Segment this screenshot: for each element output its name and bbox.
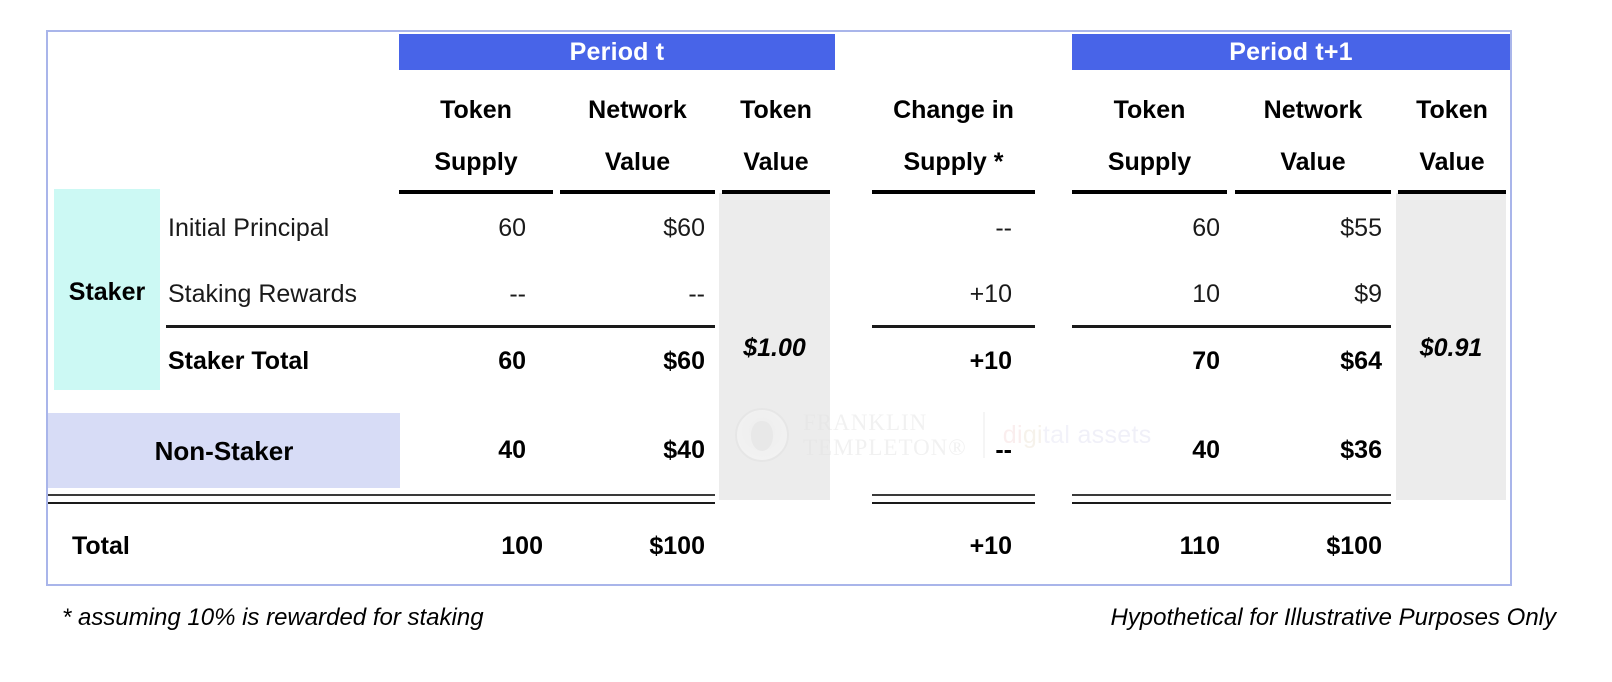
cell-total-t-token-supply: 100	[399, 532, 543, 561]
staking-illustration-table: FRANKLIN TEMPLETON® digital assets Perio…	[0, 0, 1612, 682]
column-header-t1-token-supply: Token Supply	[1072, 84, 1227, 194]
cell-total-change-in-supply: +10	[872, 532, 1012, 561]
cell-staking-rewards-t-network-value: --	[560, 280, 705, 309]
cell-staking-rewards-t1-token-supply: 10	[1072, 280, 1220, 309]
group-label-non-staker: Non-Staker	[48, 436, 400, 467]
row-label-staking-rewards: Staking Rewards	[168, 280, 408, 309]
cell-total-t1-network-value: $100	[1235, 532, 1382, 561]
column-header-t-token-supply: Token Supply	[399, 84, 553, 194]
row-label-total: Total	[72, 532, 332, 561]
header-underline	[1398, 190, 1506, 194]
cell-staking-rewards-change-in-supply: +10	[872, 280, 1012, 309]
grand-total-rule-left	[48, 494, 715, 504]
column-header-t-network-value: Network Value	[560, 84, 715, 194]
footnote-disclaimer: Hypothetical for Illustrative Purposes O…	[1110, 604, 1556, 632]
cell-non-staker-t1-network-value: $36	[1235, 436, 1382, 465]
cell-token-value-period-t: $1.00	[719, 334, 830, 363]
subtotal-rule-change	[872, 325, 1035, 328]
cell-token-value-period-t1: $0.91	[1396, 334, 1506, 363]
period-header-t: Period t	[399, 34, 835, 70]
header-underline	[560, 190, 715, 194]
cell-staker-total-change-in-supply: +10	[872, 347, 1012, 376]
cell-staker-total-t-token-supply: 60	[399, 347, 526, 376]
cell-staker-total-t1-token-supply: 70	[1072, 347, 1220, 376]
cell-non-staker-t1-token-supply: 40	[1072, 436, 1220, 465]
row-label-staker-total: Staker Total	[168, 347, 408, 376]
cell-non-staker-t-token-supply: 40	[399, 436, 526, 465]
subtotal-rule-right	[1072, 325, 1391, 328]
cell-initial-principal-t1-network-value: $55	[1235, 214, 1382, 243]
column-header-t-token-value: Token Value	[722, 84, 830, 194]
group-label-staker: Staker	[54, 278, 160, 307]
grand-total-rule-right	[1072, 494, 1391, 504]
footnote-assumption: * assuming 10% is rewarded for staking	[62, 604, 484, 632]
cell-initial-principal-t-token-supply: 60	[399, 214, 526, 243]
header-underline	[872, 190, 1035, 194]
subtotal-rule-left	[166, 325, 715, 328]
cell-total-t1-token-supply: 110	[1072, 532, 1220, 561]
cell-non-staker-t-network-value: $40	[560, 436, 705, 465]
cell-non-staker-change-in-supply: --	[872, 436, 1012, 465]
column-header-change-in-supply: Change in Supply *	[872, 84, 1035, 194]
period-header-t1: Period t+1	[1072, 34, 1510, 70]
header-underline	[1235, 190, 1391, 194]
cell-initial-principal-t1-token-supply: 60	[1072, 214, 1220, 243]
cell-staking-rewards-t1-network-value: $9	[1235, 280, 1382, 309]
cell-initial-principal-change-in-supply: --	[872, 214, 1012, 243]
cell-initial-principal-t-network-value: $60	[560, 214, 705, 243]
grand-total-rule-change	[872, 494, 1035, 504]
header-underline	[722, 190, 830, 194]
cell-staker-total-t-network-value: $60	[560, 347, 705, 376]
header-underline	[399, 190, 553, 194]
column-header-t1-token-value: Token Value	[1398, 84, 1506, 194]
cell-staking-rewards-t-token-supply: --	[399, 280, 526, 309]
cell-staker-total-t1-network-value: $64	[1235, 347, 1382, 376]
column-header-t1-network-value: Network Value	[1235, 84, 1391, 194]
row-label-initial-principal: Initial Principal	[168, 214, 408, 243]
cell-total-t-network-value: $100	[560, 532, 705, 561]
header-underline	[1072, 190, 1227, 194]
